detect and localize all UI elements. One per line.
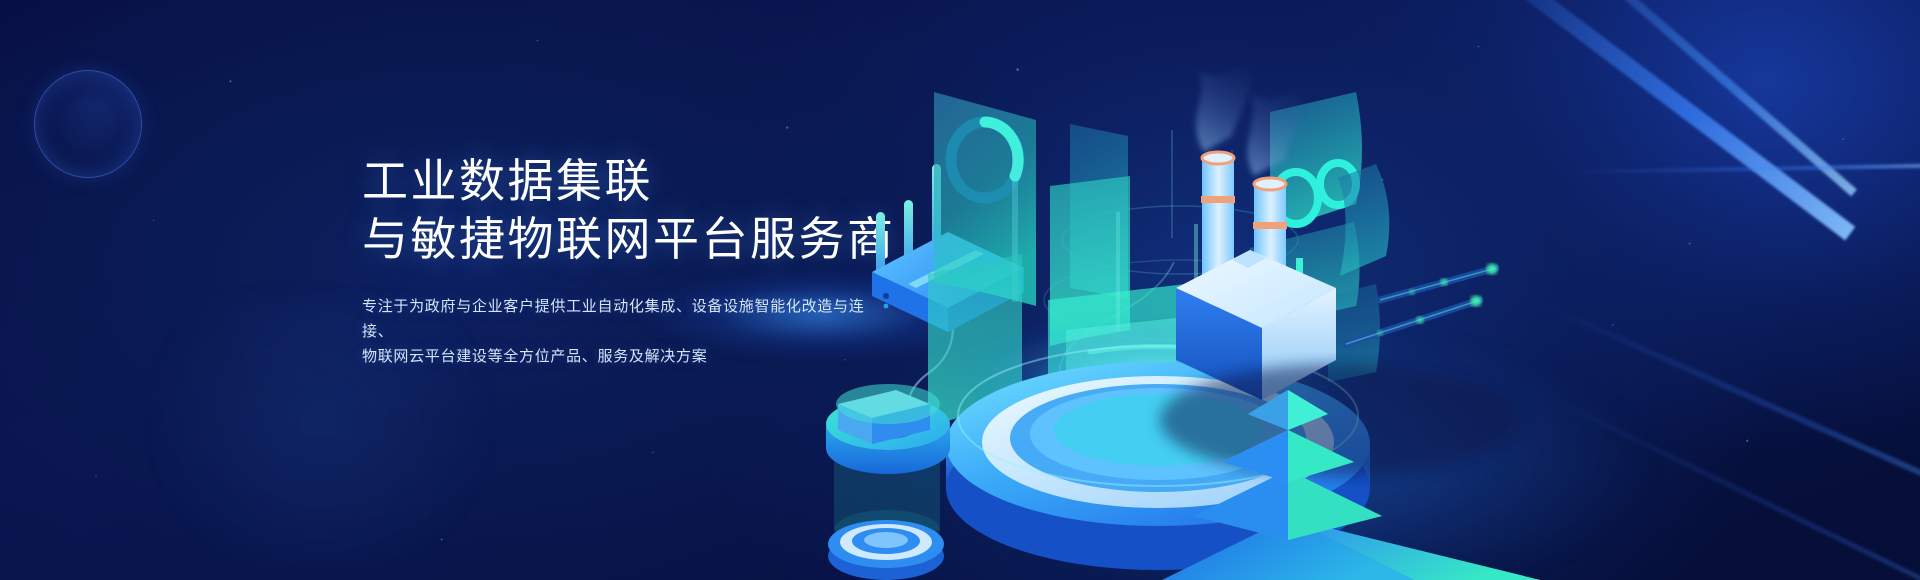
pie-segment-highlight [836, 384, 940, 424]
smoke-plume [1196, 36, 1255, 152]
hero-banner: 工业数据集联 与敏捷物联网平台服务商 专注于为政府与企业客户提供工业自动化集成、… [0, 0, 1920, 580]
tower-light-strip [1116, 212, 1120, 332]
router-led-icon [884, 304, 889, 309]
smokestack-ring [1201, 196, 1235, 203]
crescent-moon-icon [23, 59, 154, 190]
industrial-iot-illustration [780, 0, 1920, 580]
ring-cylinder-small [828, 520, 944, 580]
smokestack-ring [1253, 222, 1287, 229]
data-line-upper [1380, 264, 1497, 300]
ring-cyl-core [864, 532, 908, 548]
router-port-icon [883, 293, 889, 299]
